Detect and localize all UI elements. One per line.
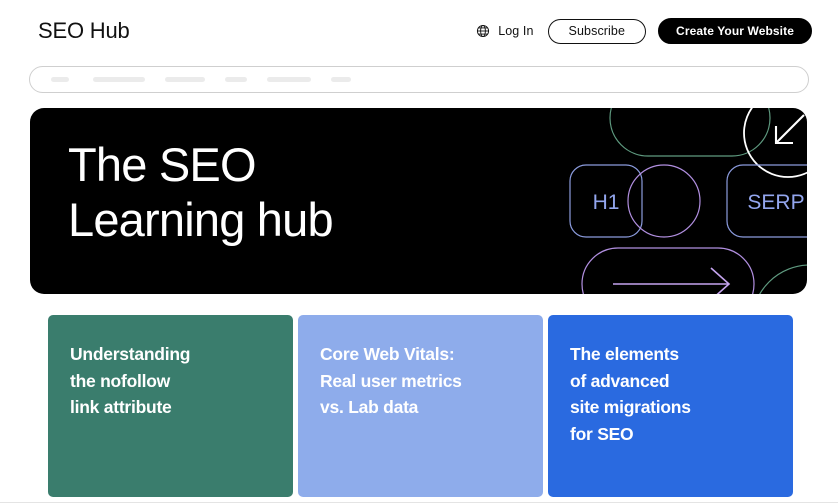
nav-placeholder-item [51, 77, 69, 82]
card-nofollow-link-attribute[interactable]: Understanding the nofollow link attribut… [48, 315, 293, 497]
card-title: Core Web Vitals: Real user metrics vs. L… [320, 341, 521, 421]
hero-title: The SEO Learning hub [68, 137, 333, 248]
globe-icon [476, 24, 490, 38]
green-circle-outline-shape [752, 265, 807, 294]
card-site-migrations[interactable]: The elements of advanced site migrations… [548, 315, 793, 497]
nav-placeholder-item [93, 77, 145, 82]
card-core-web-vitals[interactable]: Core Web Vitals: Real user metrics vs. L… [298, 315, 543, 497]
login-link[interactable]: Log In [498, 24, 533, 38]
nav-placeholder-item [225, 77, 247, 82]
h1-tag-label: H1 [593, 191, 620, 214]
site-header: SEO Hub Log In Subscribe Create Your Web… [0, 0, 838, 62]
page-bottom-divider [0, 502, 838, 503]
nav-placeholder-item [165, 77, 205, 82]
header-actions: Log In Subscribe Create Your Website [476, 18, 812, 44]
nav-placeholder-item [267, 77, 311, 82]
serp-tag-label: SERP [747, 191, 804, 214]
article-card-list: Understanding the nofollow link attribut… [48, 315, 793, 497]
nav-placeholder-item [331, 77, 351, 82]
site-logo[interactable]: SEO Hub [38, 18, 130, 44]
white-circle-arrow-down-left-shape [744, 108, 807, 177]
subscribe-button[interactable]: Subscribe [548, 19, 647, 44]
language-selector[interactable]: Log In [476, 24, 533, 38]
page-root: SEO Hub Log In Subscribe Create Your Web… [0, 0, 838, 504]
purple-circle-outline-shape [628, 165, 700, 237]
purple-pill-arrow-right-shape [582, 248, 754, 294]
create-your-website-button[interactable]: Create Your Website [658, 18, 812, 44]
card-title: Understanding the nofollow link attribut… [70, 341, 271, 421]
hero-banner: H1 SERP The SEO Learning hub [30, 108, 807, 294]
card-title: The elements of advanced site migrations… [570, 341, 771, 447]
navigation-bar[interactable] [29, 66, 809, 93]
